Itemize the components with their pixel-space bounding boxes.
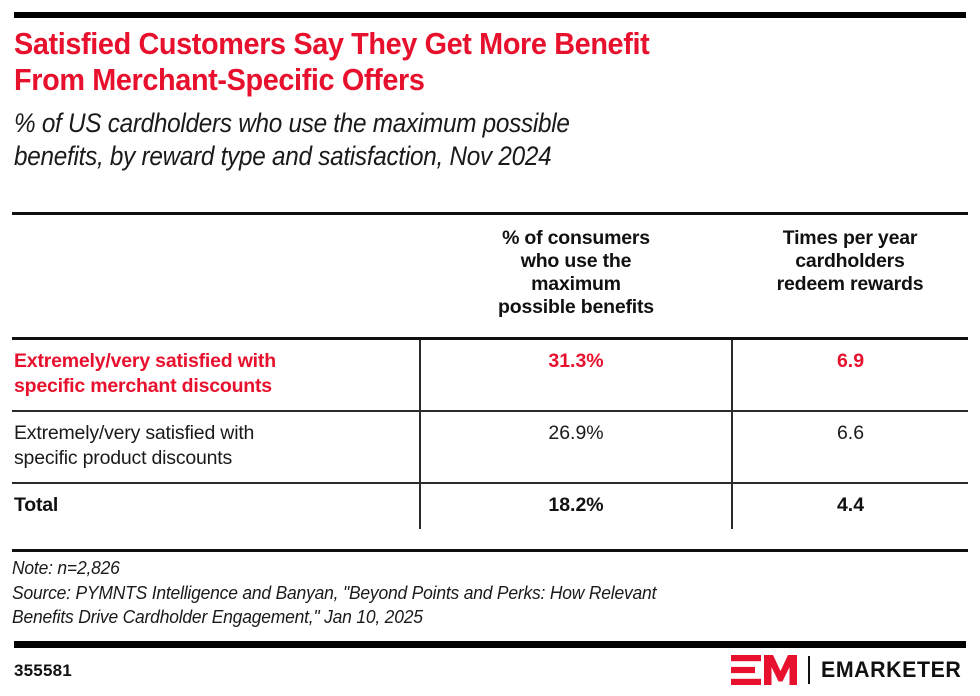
cell-times-merchant-discounts: 6.9 (732, 339, 968, 412)
logo-divider (808, 656, 810, 684)
data-table: % of consumers who use the maximum possi… (12, 212, 968, 529)
footer-divider (14, 641, 966, 648)
chart-card: Satisfied Customers Say They Get More Be… (0, 0, 980, 696)
table-row-total: Total 18.2% 4.4 (12, 483, 968, 529)
note-text: Note: n=2,826 (12, 556, 939, 581)
column-header-label (12, 214, 420, 339)
row-label-merchant-discounts: Extremely/very satisfied with specific m… (12, 339, 420, 412)
row-label-total: Total (12, 483, 420, 529)
title-block: Satisfied Customers Say They Get More Be… (14, 26, 966, 173)
cell-times-product-discounts: 6.6 (732, 411, 968, 483)
data-table-container: % of consumers who use the maximum possi… (12, 212, 968, 529)
cell-pct-total: 18.2% (420, 483, 732, 529)
cell-pct-merchant-discounts: 31.3% (420, 339, 732, 412)
chart-headline: Satisfied Customers Say They Get More Be… (14, 26, 899, 98)
notes-block: Note: n=2,826 Source: PYMNTS Intelligenc… (12, 556, 939, 630)
column-header-pct-max-benefits: % of consumers who use the maximum possi… (420, 214, 732, 339)
emarketer-logo[interactable]: EMARKETER (731, 655, 966, 685)
top-divider (14, 12, 966, 18)
em-monogram-icon (731, 655, 797, 685)
table-row: Extremely/very satisfied with specific p… (12, 411, 968, 483)
source-text: Source: PYMNTS Intelligence and Banyan, … (12, 581, 939, 630)
table-header-row: % of consumers who use the maximum possi… (12, 214, 968, 339)
row-label-product-discounts: Extremely/very satisfied with specific p… (12, 411, 420, 483)
chart-id: 355581 (14, 661, 72, 681)
cell-times-total: 4.4 (732, 483, 968, 529)
table-bottom-divider (12, 549, 968, 552)
chart-subhead: % of US cardholders who use the maximum … (14, 107, 871, 173)
column-header-times-per-year: Times per year cardholders redeem reward… (732, 214, 968, 339)
table-row: Extremely/very satisfied with specific m… (12, 339, 968, 412)
brand-wordmark: EMARKETER (821, 657, 961, 683)
cell-pct-product-discounts: 26.9% (420, 411, 732, 483)
